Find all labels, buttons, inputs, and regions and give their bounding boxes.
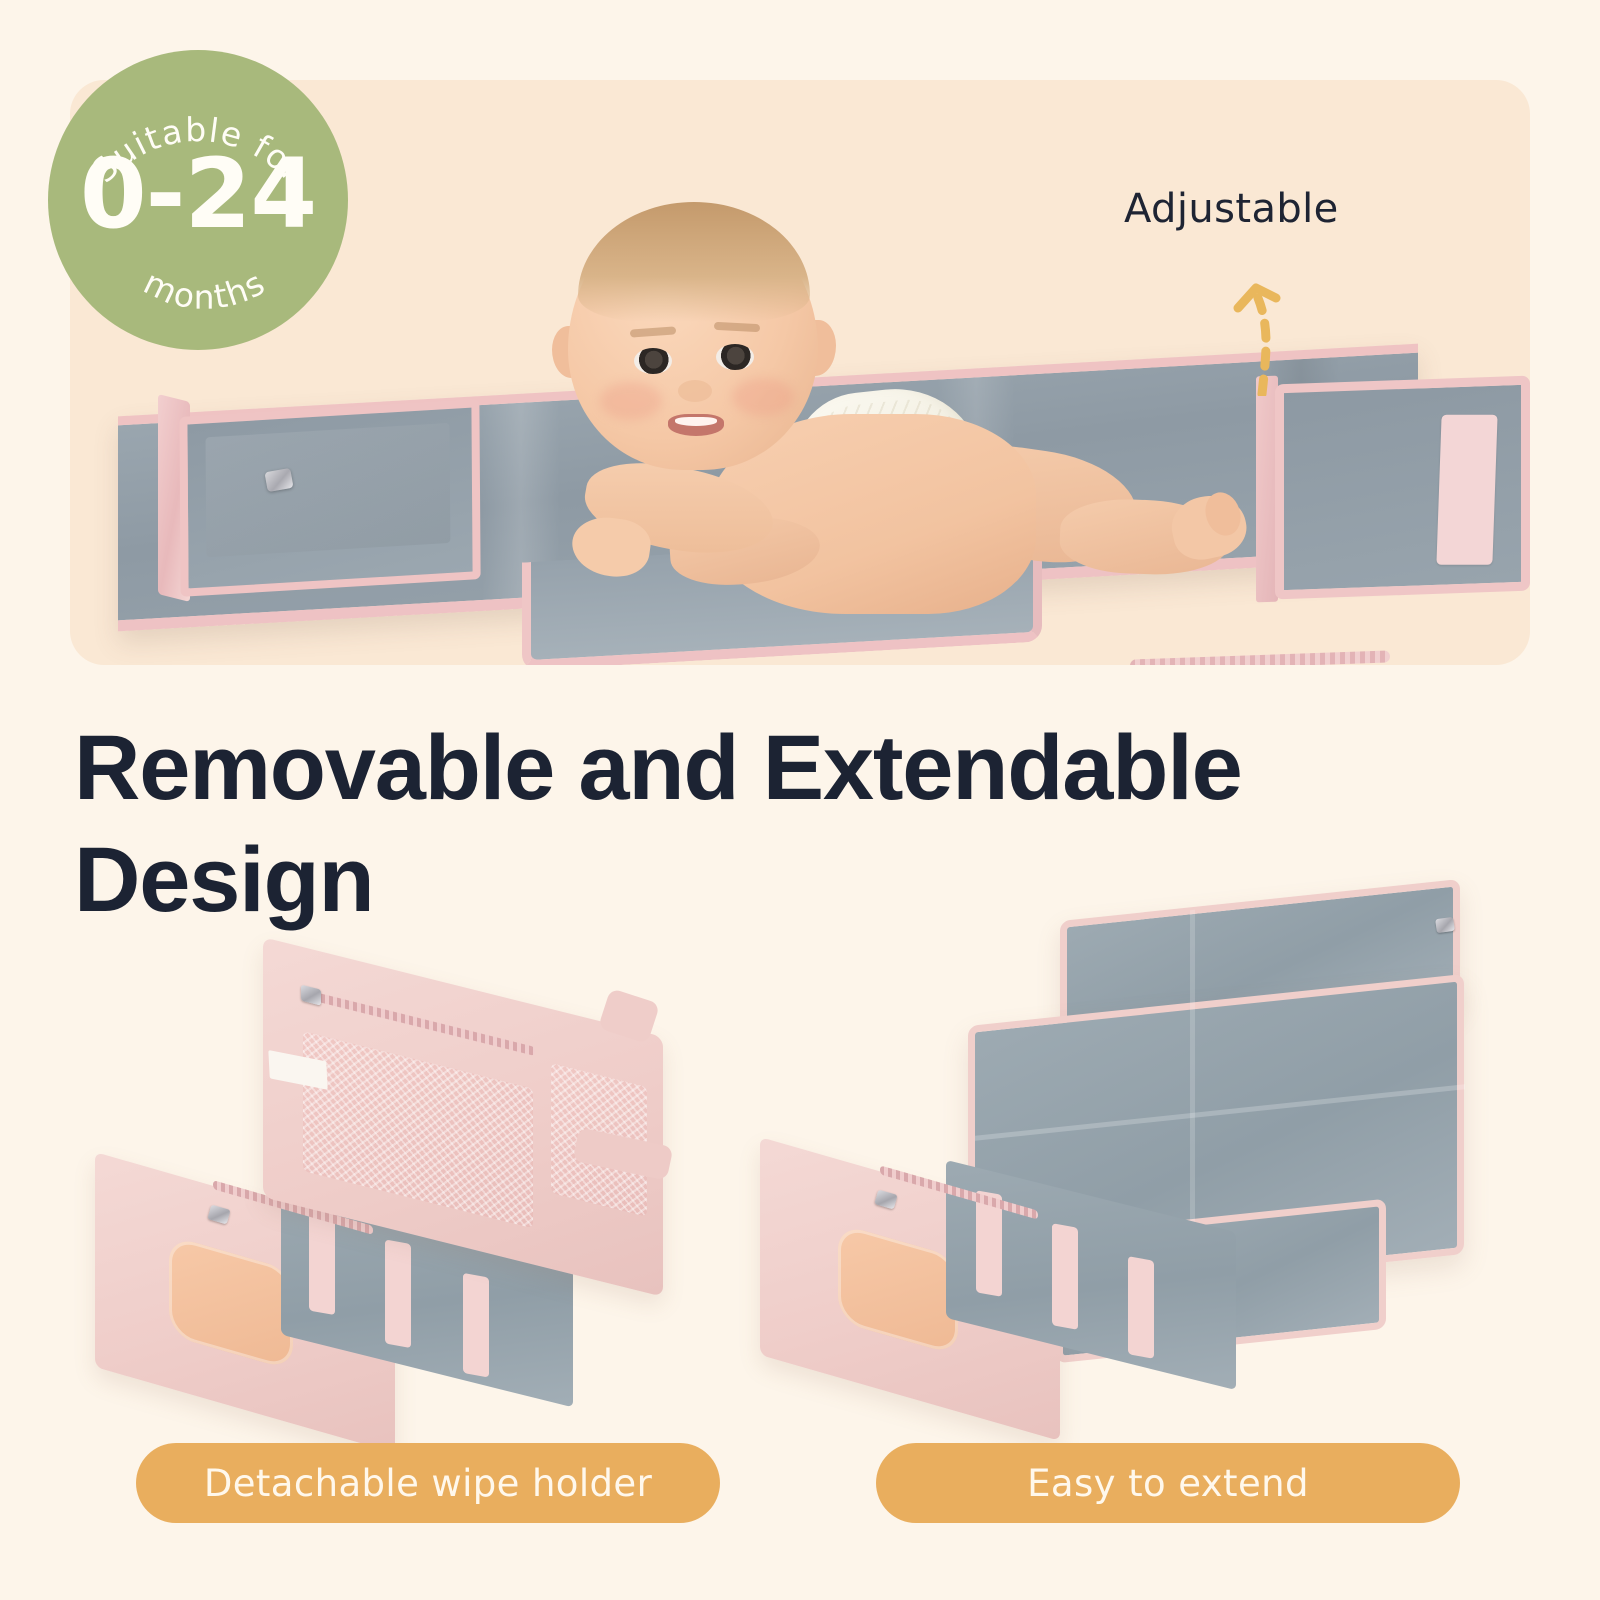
detachable-wipe-holder-shot xyxy=(95,975,715,1405)
velcro-strip xyxy=(1436,415,1497,565)
mat-right-adjustable-flap xyxy=(1275,376,1530,600)
caption-detachable-wipe-holder: Detachable wipe holder xyxy=(136,1443,720,1523)
baby-right-cheek xyxy=(732,378,794,416)
badge-arc-bottom-text: months xyxy=(138,262,272,316)
caption-easy-to-extend: Easy to extend xyxy=(876,1443,1460,1523)
baby-left-cheek xyxy=(600,382,662,420)
velcro-bar-2 xyxy=(385,1239,411,1348)
badge-age-range: 0-24 xyxy=(48,146,348,242)
easy-to-extend-shot xyxy=(760,880,1460,1400)
baby-mouth xyxy=(668,414,724,436)
baby-photo-subject xyxy=(500,200,1260,620)
pouch-zipper-pull-icon xyxy=(301,985,321,1006)
extend-wipe-dispenser-window xyxy=(838,1223,958,1355)
extend-corner-zipper-icon xyxy=(1435,917,1455,933)
adjustable-arrow-icon xyxy=(1200,236,1320,396)
adjustable-callout-label: Adjustable xyxy=(1124,186,1339,232)
mat-left-flap xyxy=(179,399,480,597)
age-suitability-badge: Suitable for months 0-24 xyxy=(48,50,348,350)
extend-velcro-bar-2 xyxy=(1052,1223,1078,1330)
mat-zipper-trim xyxy=(1130,650,1390,665)
wipe-dispenser-window xyxy=(169,1235,293,1371)
baby-hair xyxy=(578,202,810,322)
baby-right-eye xyxy=(716,344,754,370)
extend-velcro-bar-3 xyxy=(1128,1256,1154,1359)
baby-left-eye xyxy=(634,348,672,374)
badge-arc-bottom-label: months xyxy=(138,262,272,316)
baby-nose xyxy=(678,380,712,402)
mesh-pocket-large xyxy=(303,1031,533,1228)
velcro-bar-3 xyxy=(463,1273,489,1378)
